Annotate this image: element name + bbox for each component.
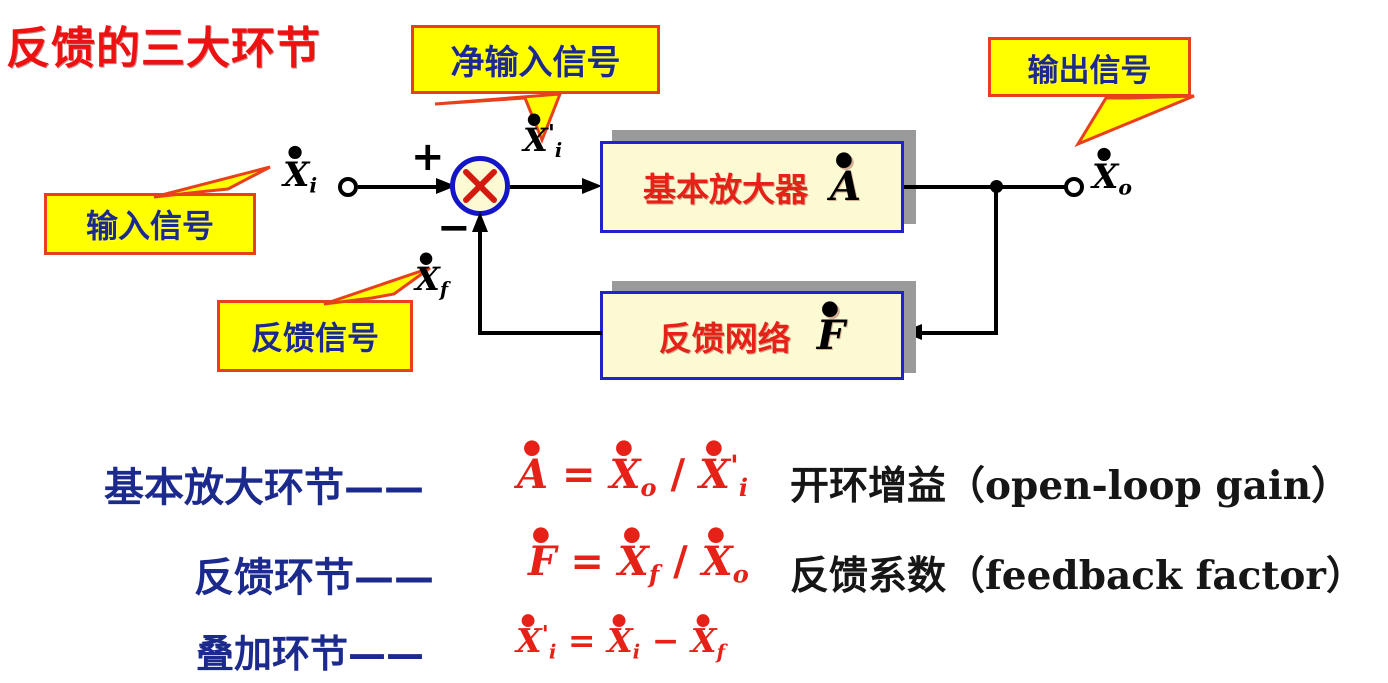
equation-row-2-formula: F = Xf / Xo (528, 542, 749, 587)
input-signal-subscript: i (309, 174, 317, 198)
eq1-slash: / (670, 451, 685, 498)
basic-amplifier-block[interactable]: 基本放大器 A (600, 141, 904, 233)
equation-row-1-note-en: open-loop gain (985, 463, 1311, 509)
page-title: 反馈的三大环节 (6, 12, 321, 76)
eq1-equals: = (562, 451, 596, 498)
eq2-equals: = (570, 538, 604, 585)
feedback-base: X (415, 263, 440, 295)
junction-minus-sign: − (437, 208, 471, 248)
eq3-lhs-prime: ' (542, 620, 549, 648)
eq3-term-a: X (607, 624, 633, 657)
input-signal-math-label: Xi (283, 158, 317, 196)
eq1-rparen: ） (1311, 464, 1350, 509)
wire-feedback-up-to-junction (478, 228, 482, 335)
eq3-term-b: X (691, 624, 717, 657)
feedback-network-label: 反馈网络 (659, 312, 791, 360)
basic-amplifier-label: 基本放大器 (643, 163, 808, 211)
net-input-base: X (523, 124, 548, 156)
callout-input-signal: 输入信号 (44, 193, 256, 255)
equation-row-2-term: 反馈环节—— (194, 545, 434, 603)
eq3-equals: = (568, 621, 596, 660)
equation-row-1-note: 开环增益（open-loop gain） (790, 455, 1350, 511)
callout-net-input-signal-tail (430, 88, 590, 148)
net-input-subscript: i (555, 139, 562, 162)
equation-row-2-note-cn: 反馈系数 (790, 554, 946, 599)
eq3-term-b-subscript: f (716, 639, 725, 663)
input-terminal-node (338, 177, 358, 197)
input-signal-base: X (283, 158, 309, 192)
eq2-denominator: X (702, 542, 733, 582)
wire-node-to-output-terminal (996, 185, 1066, 189)
wire-feedback-to-left (478, 331, 602, 335)
equation-row-2-note-en: feedback factor (985, 553, 1326, 599)
feedback-math-label: Xf (415, 263, 448, 299)
arrowhead-feedback-into-junction (470, 210, 490, 232)
eq2-lparen: （ (946, 554, 985, 599)
eq2-rparen: ） (1326, 554, 1365, 599)
wire-junction-to-amplifier (510, 185, 590, 189)
callout-feedback-signal: 反馈信号 (217, 300, 413, 372)
eq2-numerator: X (618, 542, 649, 582)
output-subscript: o (1118, 176, 1132, 200)
multiply-icon (455, 161, 505, 211)
callout-feedback-signal-label: 反馈信号 (251, 313, 379, 359)
net-input-prime: ' (548, 120, 555, 147)
junction-plus-sign: + (411, 137, 445, 177)
eq2-slash: / (673, 538, 688, 585)
callout-output-signal-label: 输出信号 (1028, 45, 1152, 90)
wire-amplifier-to-output-node (904, 185, 996, 189)
eq2-denominator-subscript: o (733, 560, 749, 589)
slide-canvas: 反馈的三大环节 净输入信号 输出信号 输入信号 反馈信号 + − (0, 0, 1388, 683)
eq3-minus: − (652, 621, 680, 660)
eq3-term-a-subscript: i (633, 639, 641, 663)
feedback-symbol-glyph: F (817, 316, 845, 356)
eq1-denominator-prime: ' (730, 449, 739, 483)
wire-input-to-junction (358, 185, 444, 189)
net-input-math-label: X'i (523, 122, 562, 160)
eq3-lhs-subscript: i (549, 639, 557, 663)
equation-row-3-formula: X'i = Xi − Xf (516, 623, 725, 662)
wire-output-node-down (994, 185, 998, 335)
callout-input-signal-label: 输入信号 (86, 201, 214, 247)
callout-net-input-signal-label: 净输入信号 (451, 35, 621, 84)
equation-row-2-note: 反馈系数（feedback factor） (790, 545, 1365, 601)
eq1-denominator-subscript: i (739, 473, 748, 502)
output-terminal-node (1064, 177, 1084, 197)
equation-row-1-term: 基本放大环节—— (104, 455, 424, 513)
feedback-subscript: f (440, 278, 448, 301)
equation-row-1-note-cn: 开环增益 (790, 464, 946, 509)
output-math-label: Xo (1092, 160, 1132, 198)
equation-row-3-term: 叠加环节—— (196, 623, 424, 678)
basic-amplifier-symbol: A (830, 167, 861, 207)
amplifier-symbol-glyph: A (830, 167, 861, 207)
eq2-numerator-subscript: f (649, 560, 659, 589)
feedback-network-block[interactable]: 反馈网络 F (600, 291, 904, 380)
eq3-lhs: X (516, 624, 542, 657)
callout-output-signal: 输出信号 (988, 37, 1191, 97)
feedback-network-symbol: F (817, 316, 845, 356)
eq1-lparen: （ (946, 464, 985, 509)
eq2-lhs: F (528, 542, 556, 582)
output-base: X (1092, 160, 1118, 194)
